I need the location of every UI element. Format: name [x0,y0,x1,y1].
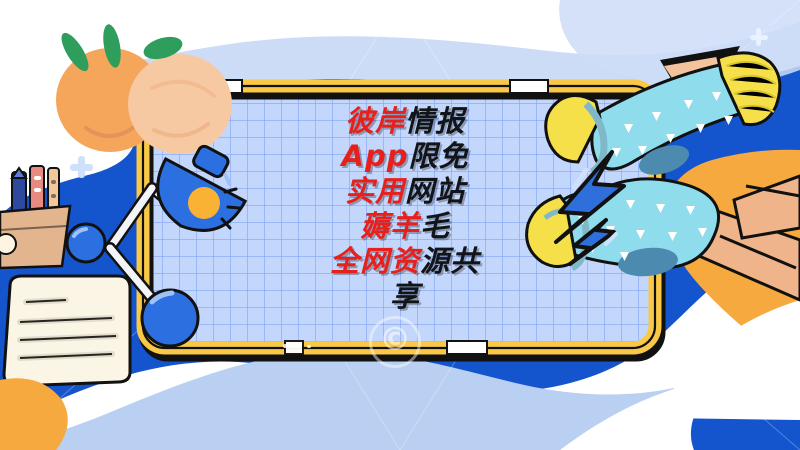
right-objects [0,0,800,450]
copyright-watermark: © [369,316,421,368]
sparkle-icon [750,28,768,46]
poster-canvas: 彼岸情报 App限免 实用网站 薅羊毛 全网资源共 享 © [0,0,800,450]
